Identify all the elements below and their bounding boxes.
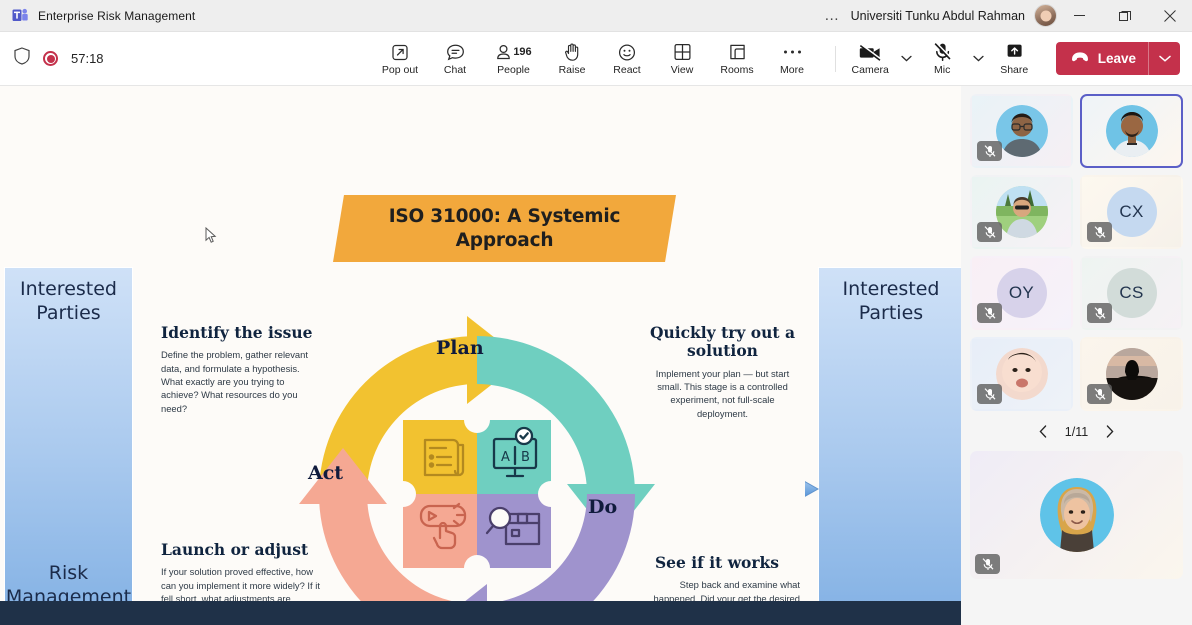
participant-tile[interactable] [970,94,1073,168]
react-smiley-icon [618,42,637,63]
user-avatar[interactable] [1034,4,1057,27]
mic-off-badge-icon [1087,303,1112,323]
mic-options-chevron-down-icon[interactable] [970,35,987,83]
toolbar-divider [835,46,836,72]
app-title: Enterprise Risk Management [38,9,195,23]
chevron-right-icon[interactable] [1101,420,1118,444]
mic-button[interactable]: Mic [915,35,970,83]
right-panel-top-text: Interested Parties [819,278,961,326]
avatar-initials: CX [1107,187,1157,237]
camera-button[interactable]: Camera [843,35,898,83]
svg-text:B: B [521,450,530,465]
participant-pagination: 1/11 [970,415,1183,448]
recording-indicator-icon [43,51,58,66]
chat-button[interactable]: Chat [428,35,483,83]
quadrant-heading-plan: Identify the issue [161,324,313,342]
teams-logo-icon [12,7,29,24]
meeting-stage: ISO 31000: A Systemic Approach Intereste… [0,86,961,625]
participant-tile[interactable] [970,337,1073,411]
spotlight-participant-tile[interactable] [970,451,1183,579]
quadrant-text-plan: Identify the issue Define the problem, g… [161,324,313,415]
quadrant-heading-act: Launch or adjust [161,541,321,559]
window-overflow-icon[interactable]: … [814,8,851,23]
people-count: 196 [513,46,531,58]
share-button[interactable]: Share [987,35,1042,83]
slide-title-line2: Approach [456,230,554,251]
participant-tile[interactable]: CX [1080,175,1183,249]
share-screen-icon [1005,42,1024,63]
mic-off-badge-icon [975,554,1000,574]
people-label: People [497,65,530,76]
leave-button[interactable]: Leave [1056,42,1180,75]
camera-options-chevron-down-icon[interactable] [898,35,915,83]
quadrant-body-do: Implement your plan — but start small. T… [645,367,800,420]
shared-slide[interactable]: ISO 31000: A Systemic Approach Intereste… [0,86,961,601]
quadrant-text-act: Launch or adjust If your solution proved… [161,541,321,601]
toolbar-right-group: Camera Mic [828,32,1180,86]
avatar [1040,478,1114,552]
hangup-icon [1070,50,1090,68]
toolbar-left-group: 57:18 [0,47,104,70]
mic-off-badge-icon [1087,384,1112,404]
raise-hand-button[interactable]: Raise [545,35,600,83]
mic-off-icon [933,42,952,63]
shield-icon[interactable] [14,47,30,70]
wheel-label-do: Do [588,496,617,518]
view-button[interactable]: View [655,35,710,83]
mic-label: Mic [934,65,950,76]
react-button[interactable]: React [600,35,655,83]
wheel-inner-squares [390,407,564,581]
rooms-label: Rooms [720,65,753,76]
page-indicator: 1/11 [1065,425,1088,439]
participant-tile[interactable] [1080,337,1183,411]
window-title-bar: Enterprise Risk Management … Universiti … [0,0,1192,32]
title-bar-left: Enterprise Risk Management [0,7,195,24]
avatar [996,105,1048,157]
meeting-timer: 57:18 [71,51,104,66]
mouse-cursor-icon [205,227,217,244]
leave-options-chevron-down-icon[interactable] [1149,42,1180,75]
svg-text:A: A [501,450,510,465]
participant-tile[interactable]: CS [1080,256,1183,330]
mic-off-badge-icon [977,141,1002,161]
title-bar-right: … Universiti Tunku Abdul Rahman [814,0,1192,32]
pop-out-icon [391,42,410,63]
breakout-rooms-icon [728,42,746,63]
raise-hand-icon [564,42,581,63]
quadrant-heading-do: Quickly try out a solution [645,324,800,361]
view-grid-icon [673,42,691,63]
more-ellipsis-icon [782,42,802,63]
camera-label: Camera [852,65,889,76]
view-label: View [671,65,694,76]
quadrant-text-do: Quickly try out a solution Implement you… [645,324,800,420]
minimize-button[interactable] [1057,0,1102,32]
quadrant-heading-check: See if it works [634,554,800,572]
participant-tile[interactable] [970,175,1073,249]
quadrant-body-act: If your solution proved effective, how c… [161,565,321,601]
right-interested-parties-panel: Interested Parties Risk Managed and Comm… [818,267,961,601]
camera-off-icon [859,42,882,63]
more-label: More [780,65,804,76]
react-label: React [613,65,640,76]
quadrant-body-plan: Define the problem, gather relevant data… [161,348,313,415]
slide-title: ISO 31000: A Systemic Approach [389,205,621,252]
people-icon: 196 [495,42,531,63]
slide-title-banner: ISO 31000: A Systemic Approach [333,195,676,262]
quadrant-body-check: Step back and examine what happened. Did… [634,578,800,601]
avatar [996,186,1048,238]
people-button[interactable]: 196 People [483,35,545,83]
leave-label: Leave [1098,51,1136,66]
left-panel-bottom-text: Risk Management Requirements and Expecta… [5,562,132,601]
avatar [1106,105,1158,157]
left-interested-parties-panel: Interested Parties Risk Management Requi… [4,267,133,601]
mic-off-badge-icon [977,303,1002,323]
meeting-toolbar: 57:18 Pop out Chat [0,32,1192,86]
participant-rail: CX OY CS [961,86,1192,625]
chevron-left-icon[interactable] [1035,420,1052,444]
participant-tile[interactable]: OY [970,256,1073,330]
participant-tile-active[interactable] [1080,94,1183,168]
avatar [996,348,1048,400]
mic-off-badge-icon [977,222,1002,242]
close-button[interactable] [1147,0,1192,32]
quadrant-text-check: See if it works Step back and examine wh… [634,554,800,601]
leave-main-area[interactable]: Leave [1056,42,1148,75]
organization-name: Universiti Tunku Abdul Rahman [851,9,1034,23]
left-panel-top-text: Interested Parties [5,278,132,326]
chat-icon [445,42,465,63]
mic-off-badge-icon [1087,222,1112,242]
chat-label: Chat [444,65,466,76]
toolbar-center-group: Pop out Chat 196 People [373,32,820,86]
share-label: Share [1000,65,1028,76]
wheel-label-plan: Plan [436,337,484,359]
more-button[interactable]: More [765,35,820,83]
avatar-initials: CS [1107,268,1157,318]
maximize-restore-button[interactable] [1102,0,1147,32]
pop-out-label: Pop out [382,65,418,76]
slide-title-line1: ISO 31000: A Systemic [389,206,621,227]
avatar-initials: OY [997,268,1047,318]
pop-out-button[interactable]: Pop out [373,35,428,83]
mic-off-badge-icon [977,384,1002,404]
participant-grid: CX OY CS [970,94,1183,411]
rooms-button[interactable]: Rooms [710,35,765,83]
wheel-label-act: Act [308,462,343,484]
raise-label: Raise [559,65,586,76]
avatar [1106,348,1158,400]
